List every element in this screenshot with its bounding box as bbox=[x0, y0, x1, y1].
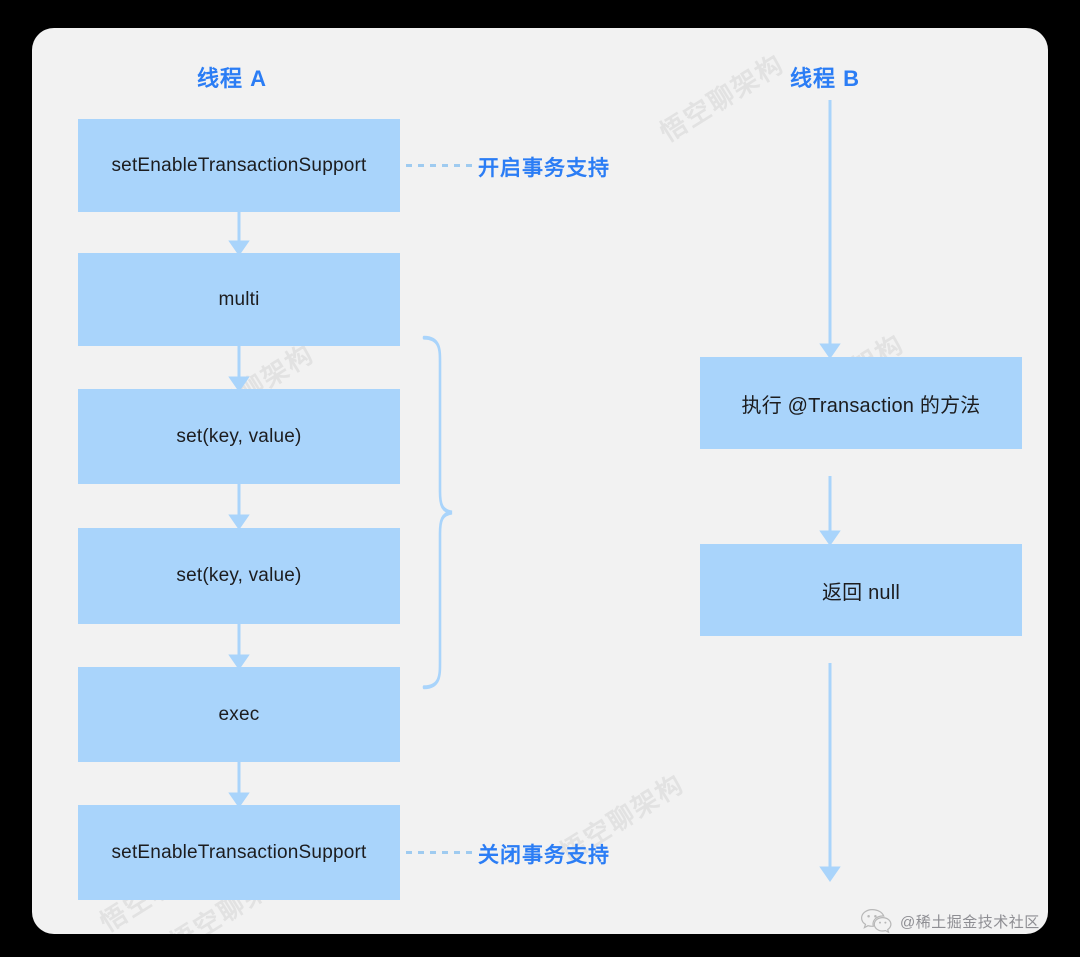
process-box-set-enable-transaction-support-open[interactable]: setEnableTransactionSupport bbox=[78, 119, 400, 212]
process-box-label: exec bbox=[219, 704, 260, 726]
process-box-label: set(key, value) bbox=[176, 565, 301, 587]
process-box-label: multi bbox=[218, 289, 259, 311]
annotation-close-transaction-support: 关闭事务支持 bbox=[478, 839, 610, 869]
process-box-return-null[interactable]: 返回 null bbox=[700, 544, 1022, 636]
dotted-connector-open bbox=[406, 164, 472, 167]
process-box-label: setEnableTransactionSupport bbox=[111, 842, 366, 864]
process-box-label: setEnableTransactionSupport bbox=[111, 155, 366, 177]
diagram-canvas: 悟空聊架构 悟空聊架构 悟空聊架构 悟空聊架构 悟空聊架构 悟空聊架构 线程 A bbox=[32, 28, 1048, 934]
wechat-icon bbox=[860, 908, 894, 934]
process-box-set-enable-transaction-support-close[interactable]: setEnableTransactionSupport bbox=[78, 805, 400, 900]
process-box-label: 返回 null bbox=[822, 576, 900, 605]
process-box-multi[interactable]: multi bbox=[78, 253, 400, 346]
dotted-connector-close bbox=[406, 851, 472, 854]
process-box-label: 执行 @Transaction 的方法 bbox=[742, 389, 981, 418]
footer-badge-text: @稀土掘金技术社区 bbox=[900, 911, 1040, 932]
process-box-set-key-value-2[interactable]: set(key, value) bbox=[78, 528, 400, 624]
process-box-exec[interactable]: exec bbox=[78, 667, 400, 762]
footer-badge: @稀土掘金技术社区 bbox=[860, 908, 1040, 934]
process-box-execute-transaction-method[interactable]: 执行 @Transaction 的方法 bbox=[700, 357, 1022, 449]
process-box-set-key-value-1[interactable]: set(key, value) bbox=[78, 389, 400, 484]
annotation-enable-transaction-support: 开启事务支持 bbox=[478, 152, 610, 182]
process-box-label: set(key, value) bbox=[176, 426, 301, 448]
